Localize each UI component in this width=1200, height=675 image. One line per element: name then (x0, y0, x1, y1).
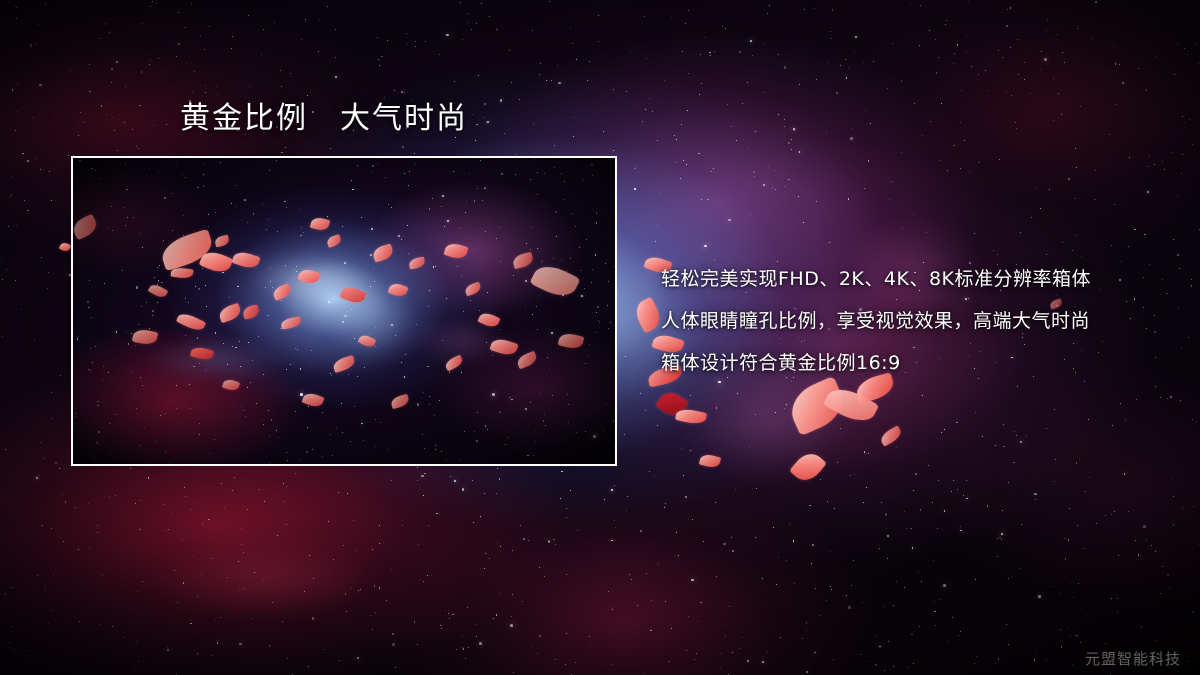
body-line-2: 人体眼睛瞳孔比例，享受视觉效果，高端大气时尚 (661, 300, 1161, 342)
framed-image-panel[interactable] (71, 156, 617, 466)
body-line-3: 箱体设计符合黄金比例16:9 (661, 342, 1161, 384)
panel-vignette (73, 158, 615, 464)
slide-title: 黄金比例 大气时尚 (180, 101, 468, 137)
body-line-1: 轻松完美实现FHD、2K、4K、8K标准分辨率箱体 (661, 258, 1161, 300)
slide-canvas: 黄金比例 大气时尚 轻松完美实现FHD、2K、4K、8K标准分辨率箱体 人体眼睛… (0, 0, 1200, 675)
watermark: 元盟智能科技 (1085, 648, 1181, 669)
body-text-block: 轻松完美实现FHD、2K、4K、8K标准分辨率箱体 人体眼睛瞳孔比例，享受视觉效… (661, 258, 1161, 384)
